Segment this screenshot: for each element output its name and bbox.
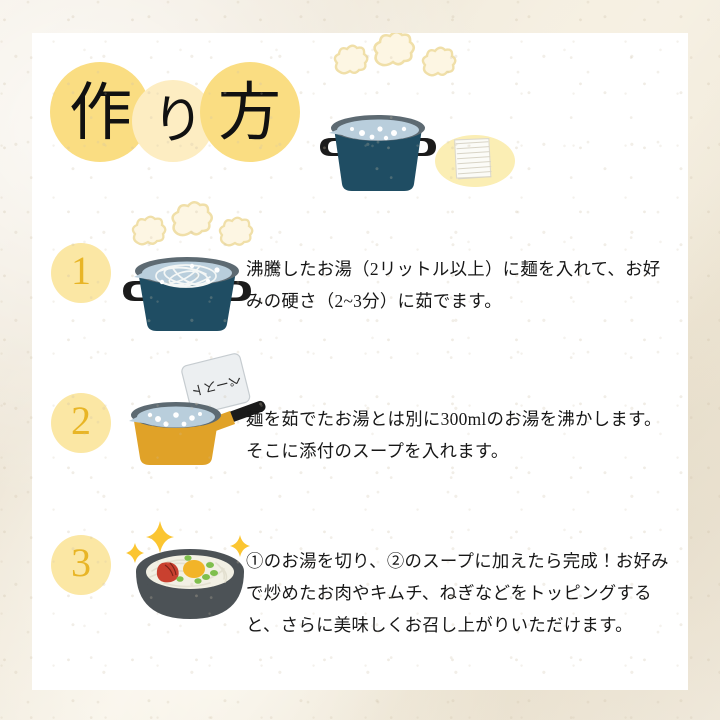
steam-puff-icon — [173, 202, 212, 235]
sparkle-icon — [126, 543, 144, 563]
step-1-number: 1 — [71, 251, 91, 291]
header-illustration — [318, 45, 534, 195]
steam-puff-icon — [375, 33, 414, 65]
textured-frame: 作 り 方 — [0, 0, 720, 720]
steam-puff-icon — [335, 46, 367, 74]
step-3: 3 — [32, 503, 688, 673]
page-title: 作 り 方 — [50, 58, 330, 178]
step-2-text: 麺を茹でたお湯とは別に300mlのお湯を沸かします。そこに添付のスープを入れます… — [246, 403, 676, 467]
step-1-number-badge: 1 — [51, 243, 111, 303]
title-char-1: 作 — [69, 82, 132, 145]
step-1: 1 — [32, 201, 688, 341]
steam-puff-icon — [220, 218, 252, 246]
boiling-pot-icon — [123, 257, 251, 331]
noodle-bowl-icon — [136, 549, 244, 619]
step-3-number: 3 — [71, 543, 91, 583]
step-3-text: ①のお湯を切り、②のスープに加えたら完成！お好みで炒めたお肉やキムチ、ねぎなどを… — [246, 545, 676, 642]
noodle-bundle-icon — [451, 135, 495, 182]
step-2-number-badge: 2 — [51, 393, 111, 453]
steam-puff-icon — [423, 48, 455, 76]
step-3-number-badge: 3 — [51, 535, 111, 595]
recipe-card: 作 り 方 — [32, 33, 688, 690]
step-2: 2 ペースト — [32, 345, 688, 495]
step-1-illustration — [120, 209, 260, 337]
egg-yolk — [183, 560, 205, 578]
steam-puff-icon — [133, 217, 165, 245]
stock-pot-icon — [320, 115, 436, 191]
step-3-illustration — [120, 513, 260, 638]
kimchi-icon — [157, 562, 179, 582]
step-2-number: 2 — [71, 401, 91, 441]
sparkle-icon — [146, 521, 174, 553]
title-char-3: 方 — [218, 82, 281, 145]
step-1-text: 沸騰したお湯（2リットル以上）に麺を入れて、お好みの硬さ（2~3分）に茹でます。 — [246, 253, 676, 317]
title-char-2: り — [152, 96, 204, 148]
